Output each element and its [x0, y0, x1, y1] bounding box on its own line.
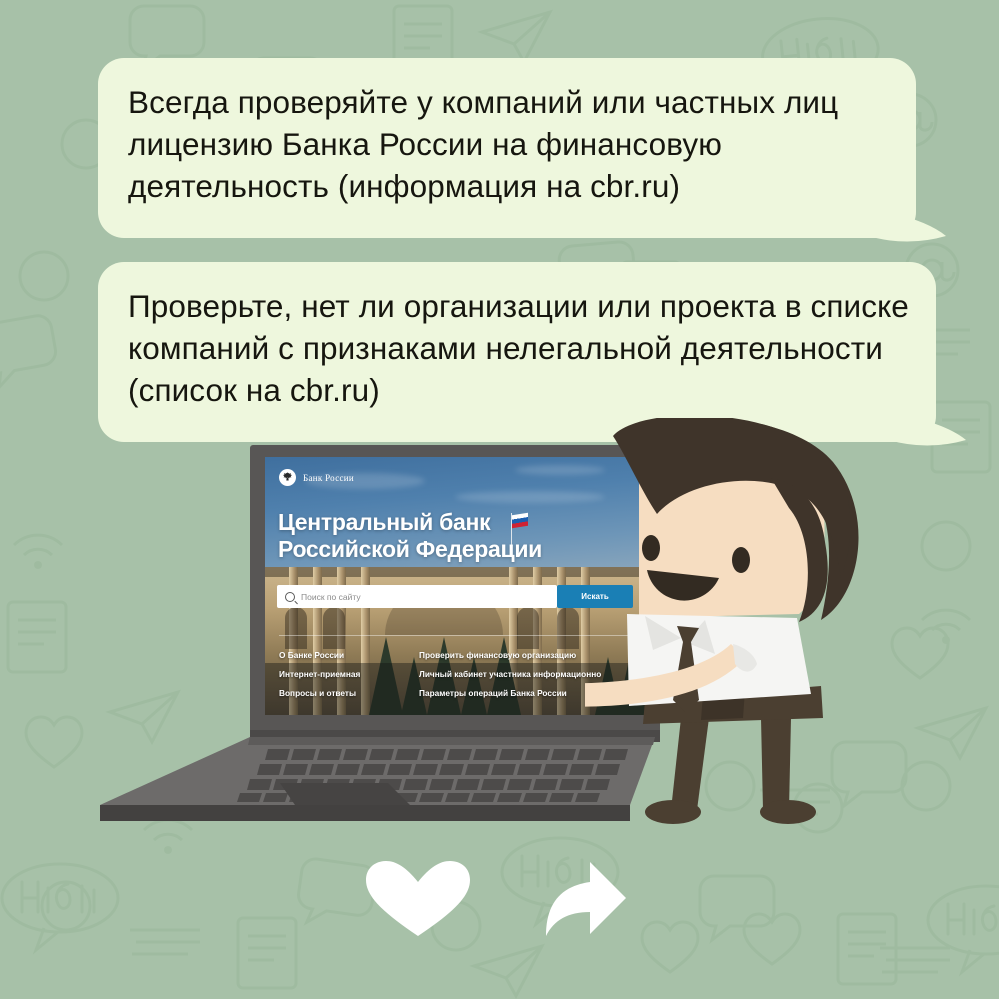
right-shoe — [760, 800, 816, 824]
footer-icons — [0, 860, 999, 940]
bubble-1-text: Всегда проверяйте у компаний или частных… — [128, 81, 908, 207]
laptop: Банк России Центральный банк Российской … — [90, 445, 660, 845]
laptop-base — [90, 737, 660, 847]
cbr-logo[interactable]: Банк России — [279, 469, 354, 486]
speech-bubble-1: Всегда проверяйте у компаний или частных… — [98, 58, 916, 238]
heart-icon[interactable] — [366, 861, 470, 936]
left-eye — [642, 535, 660, 561]
quick-link-faq[interactable]: Вопросы и ответы — [279, 688, 399, 698]
poster-canvas: Всегда проверяйте у компаний или частных… — [0, 0, 999, 999]
right-leg — [761, 718, 791, 810]
laptop-trackpad — [280, 783, 410, 805]
search-placeholder: Поиск по сайту — [301, 592, 361, 602]
bubble-2-text: Проверьте, нет ли организации или проект… — [128, 285, 928, 411]
cartoon-businessman — [585, 418, 885, 848]
website-search-row: Поиск по сайту Искать — [277, 585, 633, 608]
quick-link-about[interactable]: О Банке России — [279, 650, 399, 660]
links-divider — [279, 635, 631, 636]
cbr-eagle-emblem-icon — [279, 469, 296, 486]
right-eye — [732, 547, 750, 573]
quick-link-reception[interactable]: Интернет-приемная — [279, 669, 399, 679]
cbr-logo-label: Банк России — [303, 473, 354, 483]
share-arrow-icon[interactable] — [546, 862, 626, 936]
search-icon — [285, 592, 295, 602]
speech-bubble-2: Проверьте, нет ли организации или проект… — [98, 262, 936, 442]
search-input[interactable]: Поиск по сайту — [277, 585, 557, 608]
left-leg — [671, 718, 709, 810]
left-shoe — [645, 800, 701, 824]
website-headline: Центральный банк Российской Федерации — [278, 509, 542, 563]
